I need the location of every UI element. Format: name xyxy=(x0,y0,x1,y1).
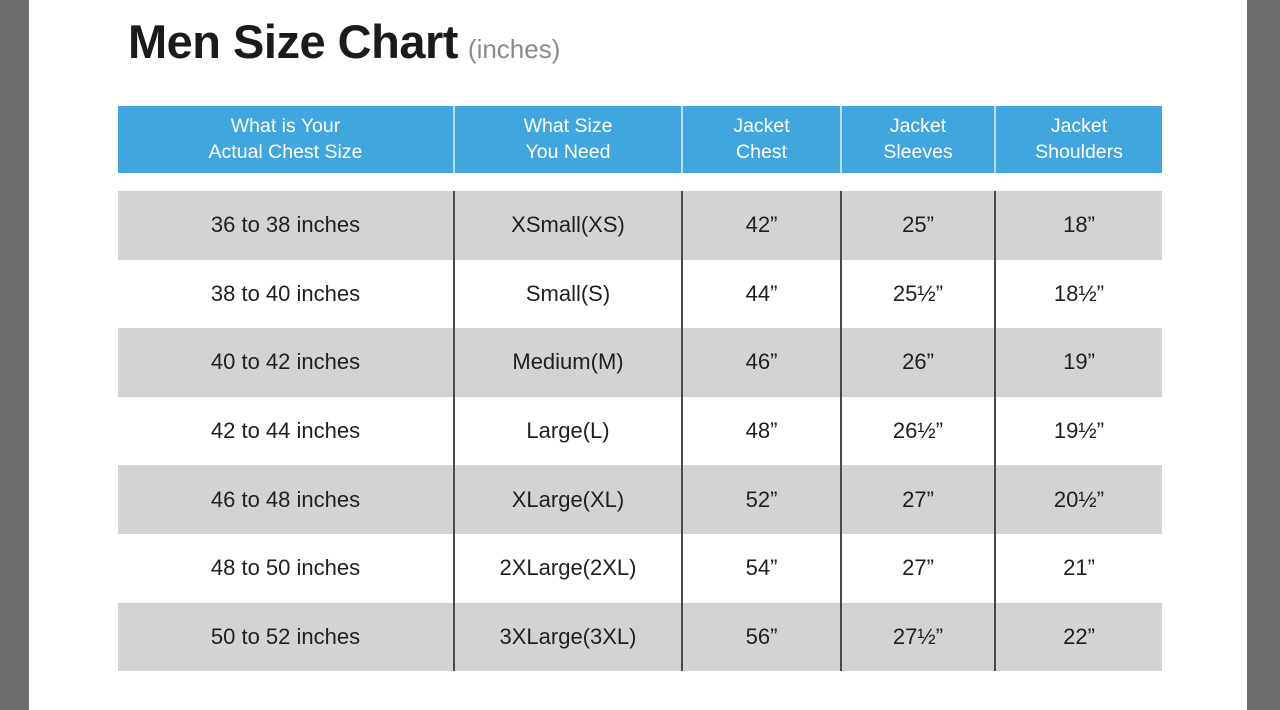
cell-actual-chest-size: 46 to 48 inches xyxy=(118,465,454,534)
cell-jacket-chest: 44” xyxy=(682,260,841,329)
cell-size-you-need: 3XLarge(3XL) xyxy=(454,603,682,672)
column-header-actual-chest-size: What is Your Actual Chest Size xyxy=(118,106,454,173)
cell-jacket-shoulders: 21” xyxy=(995,534,1162,603)
column-header-line2: You Need xyxy=(455,140,681,166)
cell-actual-chest-size: 50 to 52 inches xyxy=(118,603,454,672)
cell-jacket-shoulders: 18½” xyxy=(995,260,1162,329)
column-header-line2: Shoulders xyxy=(996,140,1162,166)
page-title-main: Men Size Chart xyxy=(128,18,458,65)
column-header-line1: Jacket xyxy=(842,114,994,140)
cell-actual-chest-size: 40 to 42 inches xyxy=(118,328,454,397)
column-header-line2: Sleeves xyxy=(842,140,994,166)
cell-jacket-sleeves: 25½” xyxy=(841,260,995,329)
cell-jacket-shoulders: 22” xyxy=(995,603,1162,672)
chart-content-area: Men Size Chart (inches) What is Your Act… xyxy=(29,0,1247,710)
cell-size-you-need: Small(S) xyxy=(454,260,682,329)
table-row: 42 to 44 inches Large(L) 48” 26½” 19½” xyxy=(118,397,1162,466)
cell-jacket-shoulders: 18” xyxy=(995,191,1162,260)
cell-jacket-chest: 56” xyxy=(682,603,841,672)
column-header-line1: Jacket xyxy=(996,114,1162,140)
cell-jacket-sleeves: 26” xyxy=(841,328,995,397)
column-header-jacket-shoulders: Jacket Shoulders xyxy=(995,106,1162,173)
cell-size-you-need: Large(L) xyxy=(454,397,682,466)
cell-jacket-sleeves: 27½” xyxy=(841,603,995,672)
table-row: 46 to 48 inches XLarge(XL) 52” 27” 20½” xyxy=(118,465,1162,534)
cell-size-you-need: Medium(M) xyxy=(454,328,682,397)
column-header-line1: What Size xyxy=(455,114,681,140)
cell-jacket-chest: 48” xyxy=(682,397,841,466)
cell-jacket-shoulders: 19½” xyxy=(995,397,1162,466)
table-row: 38 to 40 inches Small(S) 44” 25½” 18½” xyxy=(118,260,1162,329)
table-header-row: What is Your Actual Chest Size What Size… xyxy=(118,106,1162,173)
column-header-jacket-chest: Jacket Chest xyxy=(682,106,841,173)
cell-actual-chest-size: 38 to 40 inches xyxy=(118,260,454,329)
cell-actual-chest-size: 48 to 50 inches xyxy=(118,534,454,603)
column-header-line1: What is Your xyxy=(118,114,453,140)
cell-jacket-shoulders: 19” xyxy=(995,328,1162,397)
cell-size-you-need: 2XLarge(2XL) xyxy=(454,534,682,603)
header-body-gap-cell xyxy=(118,173,1162,191)
table-row: 50 to 52 inches 3XLarge(3XL) 56” 27½” 22… xyxy=(118,603,1162,672)
cell-size-you-need: XSmall(XS) xyxy=(454,191,682,260)
cell-jacket-sleeves: 26½” xyxy=(841,397,995,466)
header-body-gap xyxy=(118,173,1162,191)
column-header-line1: Jacket xyxy=(683,114,840,140)
cell-jacket-chest: 52” xyxy=(682,465,841,534)
cell-jacket-chest: 46” xyxy=(682,328,841,397)
cell-size-you-need: XLarge(XL) xyxy=(454,465,682,534)
page-title-unit: (inches) xyxy=(468,36,560,62)
cell-actual-chest-size: 42 to 44 inches xyxy=(118,397,454,466)
column-header-size-you-need: What Size You Need xyxy=(454,106,682,173)
screenshot-stage: Men Size Chart (inches) What is Your Act… xyxy=(0,0,1280,710)
table-body: 36 to 38 inches XSmall(XS) 42” 25” 18” 3… xyxy=(118,173,1162,671)
size-chart-table: What is Your Actual Chest Size What Size… xyxy=(118,106,1162,671)
cell-jacket-sleeves: 27” xyxy=(841,534,995,603)
table-row: 36 to 38 inches XSmall(XS) 42” 25” 18” xyxy=(118,191,1162,260)
cell-jacket-chest: 54” xyxy=(682,534,841,603)
table-header: What is Your Actual Chest Size What Size… xyxy=(118,106,1162,173)
cell-jacket-chest: 42” xyxy=(682,191,841,260)
page-title: Men Size Chart (inches) xyxy=(128,18,560,65)
table-row: 48 to 50 inches 2XLarge(2XL) 54” 27” 21” xyxy=(118,534,1162,603)
column-header-line2: Chest xyxy=(683,140,840,166)
column-header-jacket-sleeves: Jacket Sleeves xyxy=(841,106,995,173)
cell-jacket-sleeves: 25” xyxy=(841,191,995,260)
letterbox-band-right xyxy=(1247,0,1280,710)
cell-jacket-sleeves: 27” xyxy=(841,465,995,534)
column-header-line2: Actual Chest Size xyxy=(118,140,453,166)
table-row: 40 to 42 inches Medium(M) 46” 26” 19” xyxy=(118,328,1162,397)
letterbox-band-left xyxy=(0,0,29,710)
cell-jacket-shoulders: 20½” xyxy=(995,465,1162,534)
cell-actual-chest-size: 36 to 38 inches xyxy=(118,191,454,260)
